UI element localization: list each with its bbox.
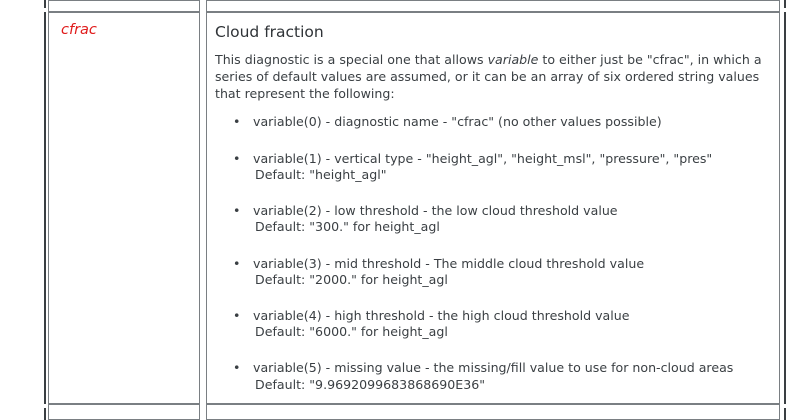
list-item-main: variable(3) - mid threshold - The middle… (253, 256, 767, 272)
table-cell-description-next (206, 404, 780, 420)
intro-emphasis-variable: variable (488, 52, 539, 67)
table-cell-key-previous (48, 0, 200, 12)
table-outer-border-right (784, 12, 786, 404)
bullet-icon: • (233, 360, 240, 376)
table-cell-description: Cloud fraction This diagnostic is a spec… (206, 12, 780, 404)
table-row-next-partial (0, 404, 788, 420)
documentation-table-page: cfrac Cloud fraction This diagnostic is … (0, 0, 788, 420)
table-cell-key-next (48, 404, 200, 420)
list-item: • variable(4) - high threshold - the hig… (231, 308, 767, 340)
list-item-default: Default: "6000." for height_agl (255, 324, 767, 340)
table-outer-border-right-top (784, 0, 786, 8)
description-content: Cloud fraction This diagnostic is a spec… (207, 13, 779, 393)
list-item: • variable(1) - vertical type - "height_… (231, 151, 767, 183)
bullet-icon: • (233, 256, 240, 272)
table-outer-border-left-top (44, 0, 46, 8)
diagnostic-key-name: cfrac (61, 22, 97, 38)
bullet-icon: • (233, 114, 240, 130)
bullet-icon: • (233, 151, 240, 167)
list-item: • variable(3) - mid threshold - The midd… (231, 256, 767, 288)
list-item: • variable(0) - diagnostic name - "cfrac… (231, 114, 767, 130)
list-item-main: variable(0) - diagnostic name - "cfrac" … (253, 114, 767, 130)
intro-paragraph: This diagnostic is a special one that al… (215, 52, 763, 102)
intro-text-before-emphasis: This diagnostic is a special one that al… (215, 52, 488, 67)
list-item-default: Default: "height_agl" (255, 167, 767, 183)
table-outer-border-right-bottom (784, 408, 786, 420)
table-row-previous-partial (0, 0, 788, 12)
variable-list: • variable(0) - diagnostic name - "cfrac… (215, 114, 767, 392)
list-item-default: Default: "9.9692099683868690E36" (255, 377, 767, 393)
table-row: cfrac Cloud fraction This diagnostic is … (0, 12, 788, 404)
list-item-main: variable(1) - vertical type - "height_ag… (253, 151, 767, 167)
table-outer-border-left-bottom (44, 408, 46, 420)
list-item: • variable(2) - low threshold - the low … (231, 203, 767, 235)
table-outer-border-left (44, 12, 46, 404)
list-item-main: variable(2) - low threshold - the low cl… (253, 203, 767, 219)
list-item: • variable(5) - missing value - the miss… (231, 360, 767, 392)
table-cell-key: cfrac (48, 12, 200, 404)
list-item-main: variable(4) - high threshold - the high … (253, 308, 767, 324)
list-item-main: variable(5) - missing value - the missin… (253, 360, 767, 376)
bullet-icon: • (233, 308, 240, 324)
list-item-default: Default: "300." for height_agl (255, 219, 767, 235)
table-cell-description-previous (206, 0, 780, 12)
bullet-icon: • (233, 203, 240, 219)
page-title: Cloud fraction (215, 23, 767, 42)
list-item-default: Default: "2000." for height_agl (255, 272, 767, 288)
